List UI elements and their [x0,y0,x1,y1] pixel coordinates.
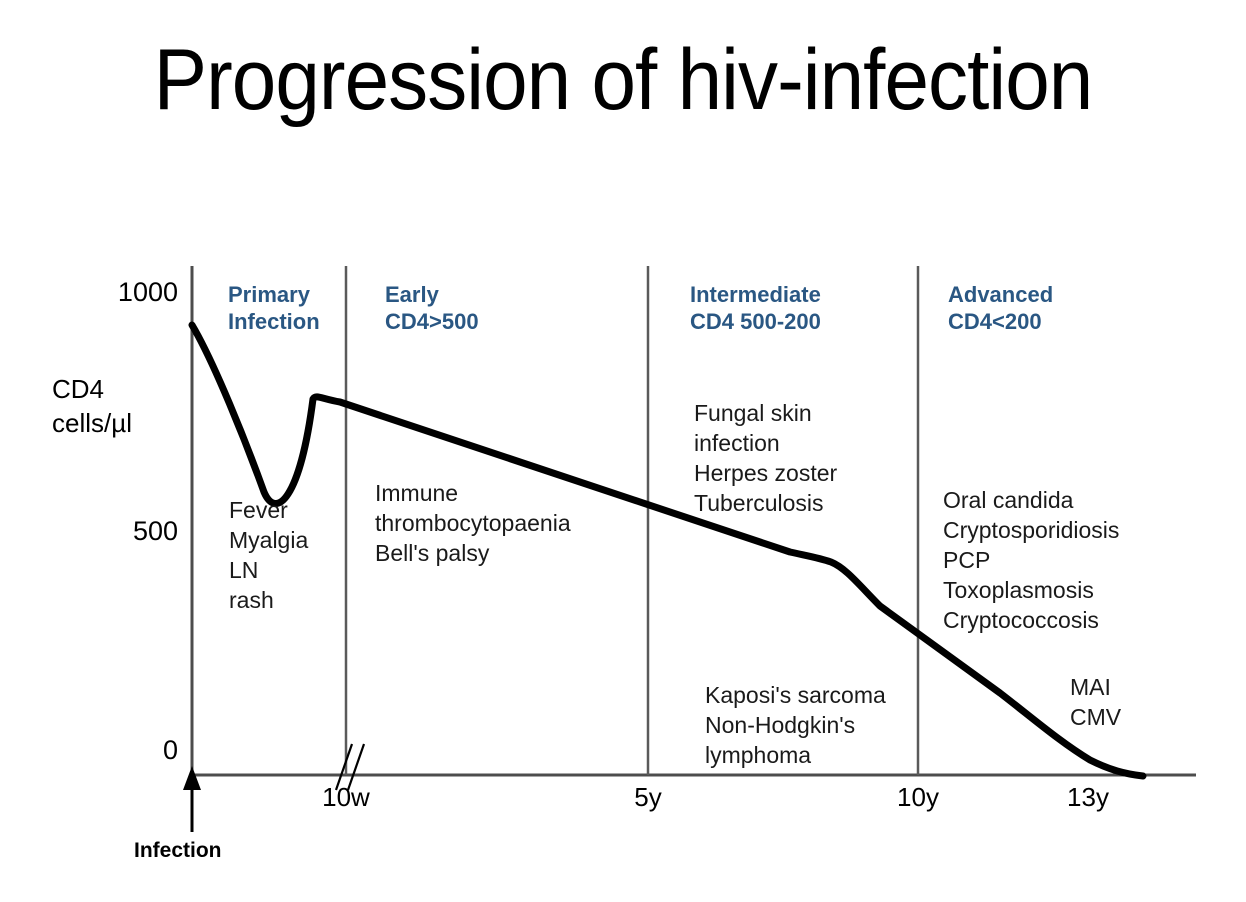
slide-canvas: Progression of hiv-infection [0,0,1246,902]
stage-header-early: Early CD4>500 [385,281,479,335]
x-tick-label-10w: 10w [306,782,386,812]
stage-header-advanced-line-1: Advanced [948,281,1053,308]
symptom-item: CMV [1070,702,1121,732]
symptom-item: Non-Hodgkin's [705,710,886,740]
symptom-item: infection [694,428,837,458]
stage-header-intermediate-line-2: CD4 500-200 [690,308,821,335]
stage-header-primary-line-1: Primary [228,281,320,308]
y-axis-title: CD4 cells/µl [52,372,184,440]
symptoms-advanced-lower: MAI CMV [1070,672,1121,732]
stage-header-intermediate-line-1: Intermediate [690,281,821,308]
symptom-item: Toxoplasmosis [943,575,1119,605]
x-tick-label-10y: 10y [878,782,958,812]
stage-header-primary-line-2: Infection [228,308,320,335]
y-tick-label-1000: 1000 [58,277,178,308]
symptom-item: MAI [1070,672,1121,702]
symptom-item: Immune [375,478,571,508]
symptom-item: PCP [943,545,1119,575]
y-axis-title-line-1: CD4 [52,372,184,406]
symptoms-intermediate-lower: Kaposi's sarcoma Non-Hodgkin's lymphoma [705,680,886,770]
symptoms-advanced-upper: Oral candida Cryptosporidiosis PCP Toxop… [943,485,1119,635]
x-tick-label-13y: 13y [1048,782,1128,812]
y-tick-label-500: 500 [58,516,178,547]
symptom-item: rash [229,585,308,615]
stage-header-primary: Primary Infection [228,281,320,335]
stage-header-advanced: Advanced CD4<200 [948,281,1053,335]
stage-header-advanced-line-2: CD4<200 [948,308,1053,335]
symptom-item: Tuberculosis [694,488,837,518]
symptom-item: Bell's palsy [375,538,571,568]
y-tick-label-0: 0 [58,735,178,766]
chart-svg [0,0,1246,902]
stage-header-early-line-2: CD4>500 [385,308,479,335]
symptom-item: Oral candida [943,485,1119,515]
symptom-item: Herpes zoster [694,458,837,488]
symptoms-primary-infection: Fever Myalgia LN rash [229,495,308,615]
cd4-progression-chart: 1000 500 0 CD4 cells/µl 10w 5y 10y 13y I… [0,0,1246,902]
symptom-item: Fungal skin [694,398,837,428]
symptom-item: Cryptococcosis [943,605,1119,635]
y-axis-title-line-2: cells/µl [52,406,184,440]
infection-marker-label: Infection [134,838,222,863]
symptoms-intermediate-upper: Fungal skin infection Herpes zoster Tube… [694,398,837,518]
symptom-item: lymphoma [705,740,886,770]
symptom-item: Kaposi's sarcoma [705,680,886,710]
symptom-item: Cryptosporidiosis [943,515,1119,545]
symptom-item: thrombocytopaenia [375,508,571,538]
symptoms-early: Immune thrombocytopaenia Bell's palsy [375,478,571,568]
x-tick-label-5y: 5y [608,782,688,812]
symptom-item: Myalgia [229,525,308,555]
symptom-item: LN [229,555,308,585]
stage-header-early-line-1: Early [385,281,479,308]
symptom-item: Fever [229,495,308,525]
stage-header-intermediate: Intermediate CD4 500-200 [690,281,821,335]
